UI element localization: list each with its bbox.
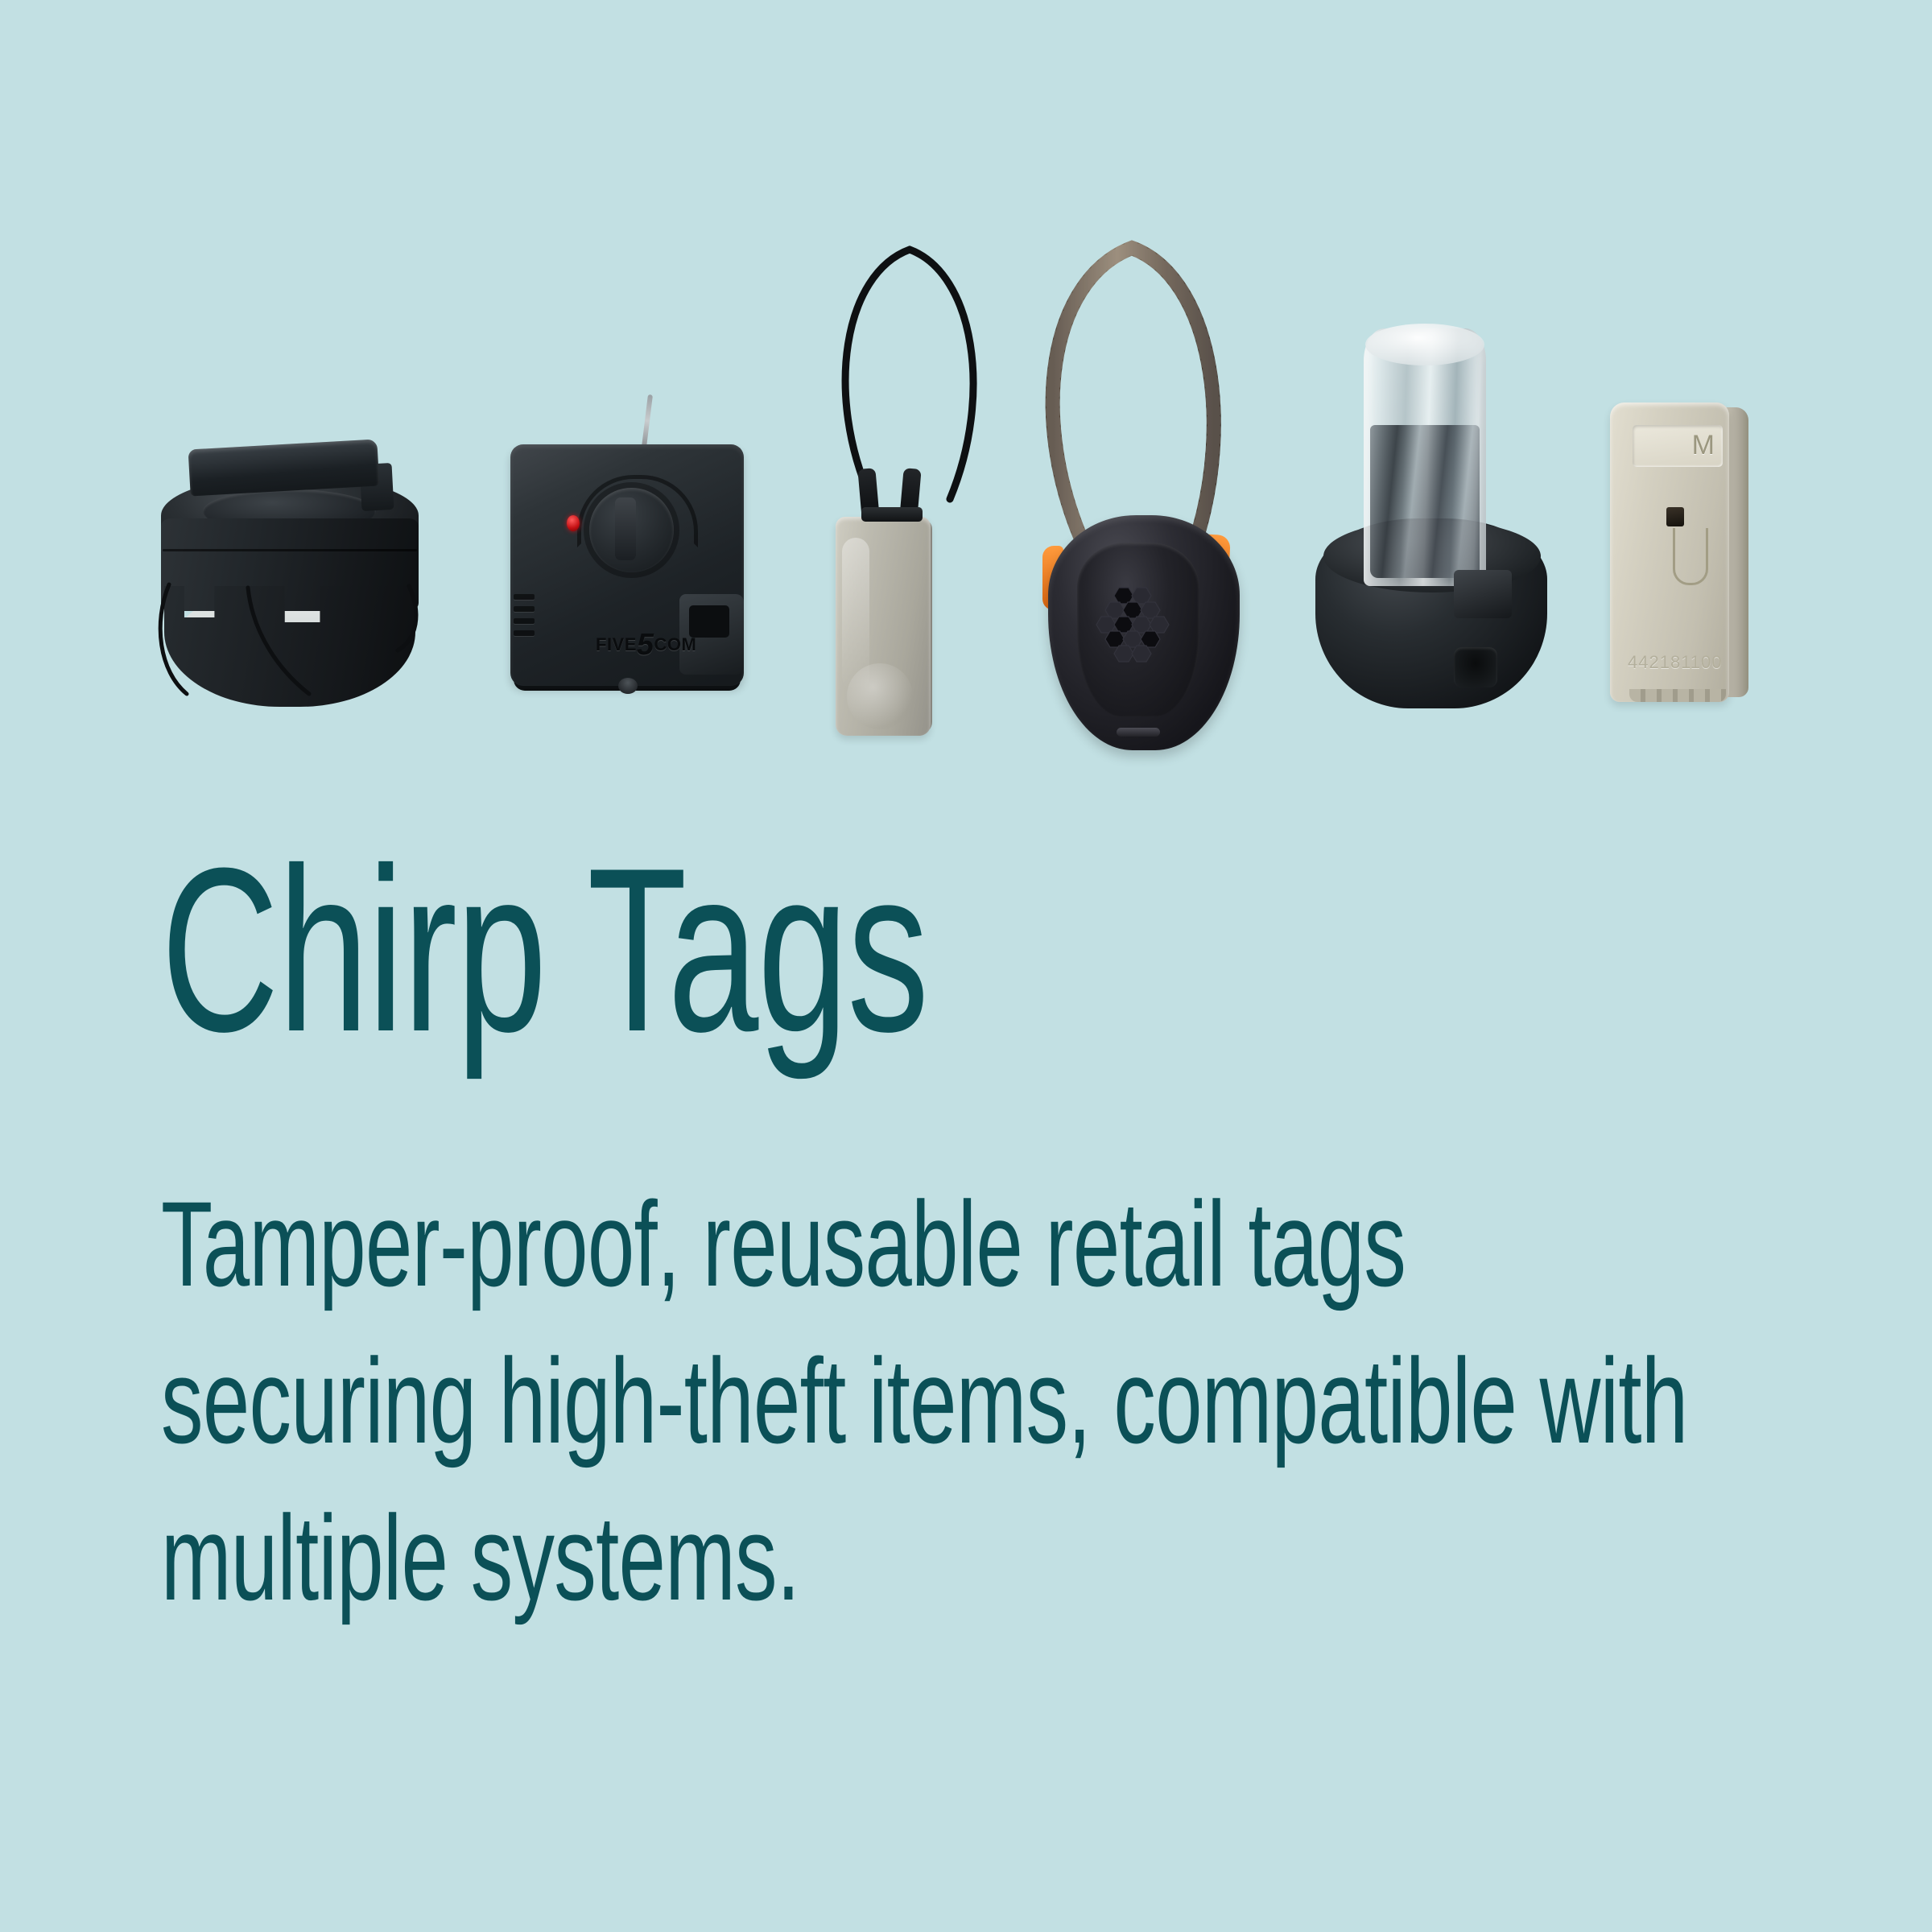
pin-hole: [1454, 647, 1497, 687]
honeycomb-grille-icon: [1090, 583, 1187, 673]
release-tab: [1454, 570, 1512, 618]
panel-letter: M: [1692, 430, 1715, 461]
brand-text: FIVE: [596, 634, 637, 654]
product-round-ink-tag: [145, 444, 451, 710]
tag-seam: [163, 549, 417, 551]
page-title: Chirp Tags: [161, 833, 928, 1067]
serial-number: 442181100: [1628, 652, 1723, 673]
product-square-alarm-tag: FIVE5COM: [493, 394, 758, 708]
brand-suffix: COM: [654, 634, 697, 654]
steel-cable-icon: [1024, 235, 1265, 549]
sensor-contact: [1666, 507, 1684, 526]
product-beige-label-tag: M 442181100: [1602, 402, 1760, 708]
page-subtitle: Tamper-proof, reusable retail tags secur…: [161, 1166, 1711, 1637]
product-teardrop-alarm-tag: [1024, 235, 1265, 750]
product-cylinder-ink-tag: [1311, 328, 1552, 723]
cable-loop-icon: [839, 242, 984, 507]
lock-keyway: [615, 497, 636, 560]
tag-body: [836, 517, 931, 736]
label-window: M: [1633, 425, 1723, 467]
base-nub: [618, 678, 638, 694]
wire-lanyard-icon: [151, 581, 425, 702]
tag-cap: [861, 507, 923, 522]
status-led: [567, 515, 580, 531]
promo-card: FIVE5COM: [0, 0, 1932, 1932]
vial-top-rim: [1365, 324, 1484, 365]
u-marking-icon: [1673, 528, 1708, 585]
bottom-slot: [1117, 728, 1160, 737]
tag-face: M 442181100: [1610, 402, 1729, 702]
product-lineup: FIVE5COM: [0, 225, 1932, 789]
sensor-dome: [847, 663, 913, 729]
brand-mark: 5: [637, 628, 654, 662]
ink-fluid: [1370, 425, 1480, 578]
vent-slots: [514, 594, 535, 647]
brand-logo: FIVE5COM: [596, 628, 696, 663]
product-grey-bar-tag: [821, 242, 1006, 741]
ratchet-teeth: [1629, 689, 1726, 702]
